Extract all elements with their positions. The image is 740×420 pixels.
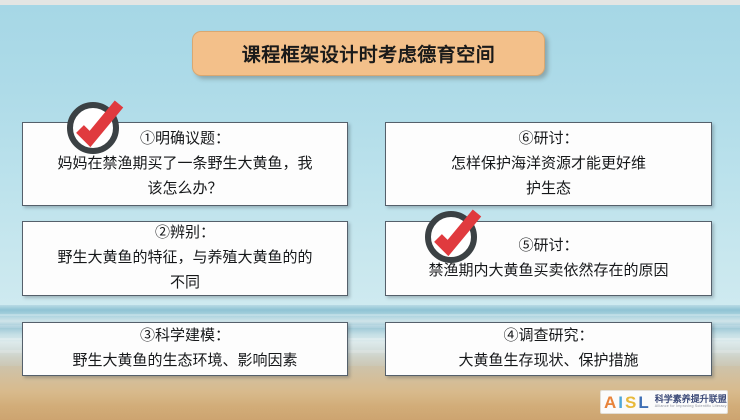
box-5-line-2: 禁渔期内大黄鱼买卖依然存在的原因 xyxy=(428,259,668,284)
logo-letter-l: L xyxy=(638,394,650,411)
box-4-line-1: ④调查研究： xyxy=(503,324,593,349)
aisl-logo-text-block: 科学素养提升联盟 Alliance for Improving Scientif… xyxy=(655,395,727,409)
logo-letter-s: S xyxy=(625,394,638,411)
box-4-line-2: 大黄鱼生存现状、保护措施 xyxy=(458,349,638,374)
content-box-6[interactable]: ⑥研讨： 怎样保护海洋资源才能更好维 护生态 xyxy=(385,122,712,206)
content-box-1[interactable]: ①明确议题： 妈妈在禁渔期买了一条野生大黄鱼，我 该怎么办？ xyxy=(22,122,348,206)
box-6-line-3: 护生态 xyxy=(526,177,571,202)
aisl-logo: A I S L 科学素养提升联盟 Alliance for Improving … xyxy=(600,390,728,414)
box-6-line-2: 怎样保护海洋资源才能更好维 xyxy=(451,152,646,177)
logo-letter-a: A xyxy=(604,394,618,411)
content-box-5[interactable]: ⑤研讨： 禁渔期内大黄鱼买卖依然存在的原因 xyxy=(385,221,712,296)
page-title: 课程框架设计时考虑德育空间 xyxy=(242,40,496,67)
aisl-logo-subtitle: Alliance for Improving Scientific Litera… xyxy=(655,405,727,409)
box-2-line-1: ②辨别： xyxy=(155,221,215,246)
box-2-line-3: 不同 xyxy=(170,271,200,296)
logo-letter-i: I xyxy=(618,394,625,411)
box-6-line-1: ⑥研讨： xyxy=(518,127,578,152)
box-1-line-1: ①明确议题： xyxy=(140,127,230,152)
box-1-line-3: 该怎么办？ xyxy=(147,177,222,202)
content-box-3[interactable]: ③科学建模： 野生大黄鱼的生态环境、影响因素 xyxy=(22,322,348,376)
presentation-slide: 课程框架设计时考虑德育空间 ①明确议题： 妈妈在禁渔期买了一条野生大黄鱼，我 该… xyxy=(0,0,740,420)
aisl-logo-chinese: 科学素养提升联盟 xyxy=(655,395,727,404)
content-box-2[interactable]: ②辨别： 野生大黄鱼的特征，与养殖大黄鱼的的 不同 xyxy=(22,221,348,296)
content-box-4[interactable]: ④调查研究： 大黄鱼生存现状、保护措施 xyxy=(385,322,712,376)
box-5-line-1: ⑤研讨： xyxy=(518,234,578,259)
aisl-logo-letters: A I S L xyxy=(604,394,651,411)
box-3-line-2: 野生大黄鱼的生态环境、影响因素 xyxy=(72,349,297,374)
box-3-line-1: ③科学建模： xyxy=(140,324,230,349)
box-2-line-2: 野生大黄鱼的特征，与养殖大黄鱼的的 xyxy=(57,246,312,271)
slide-title-banner: 课程框架设计时考虑德育空间 xyxy=(192,31,545,76)
box-1-line-2: 妈妈在禁渔期买了一条野生大黄鱼，我 xyxy=(57,152,312,177)
